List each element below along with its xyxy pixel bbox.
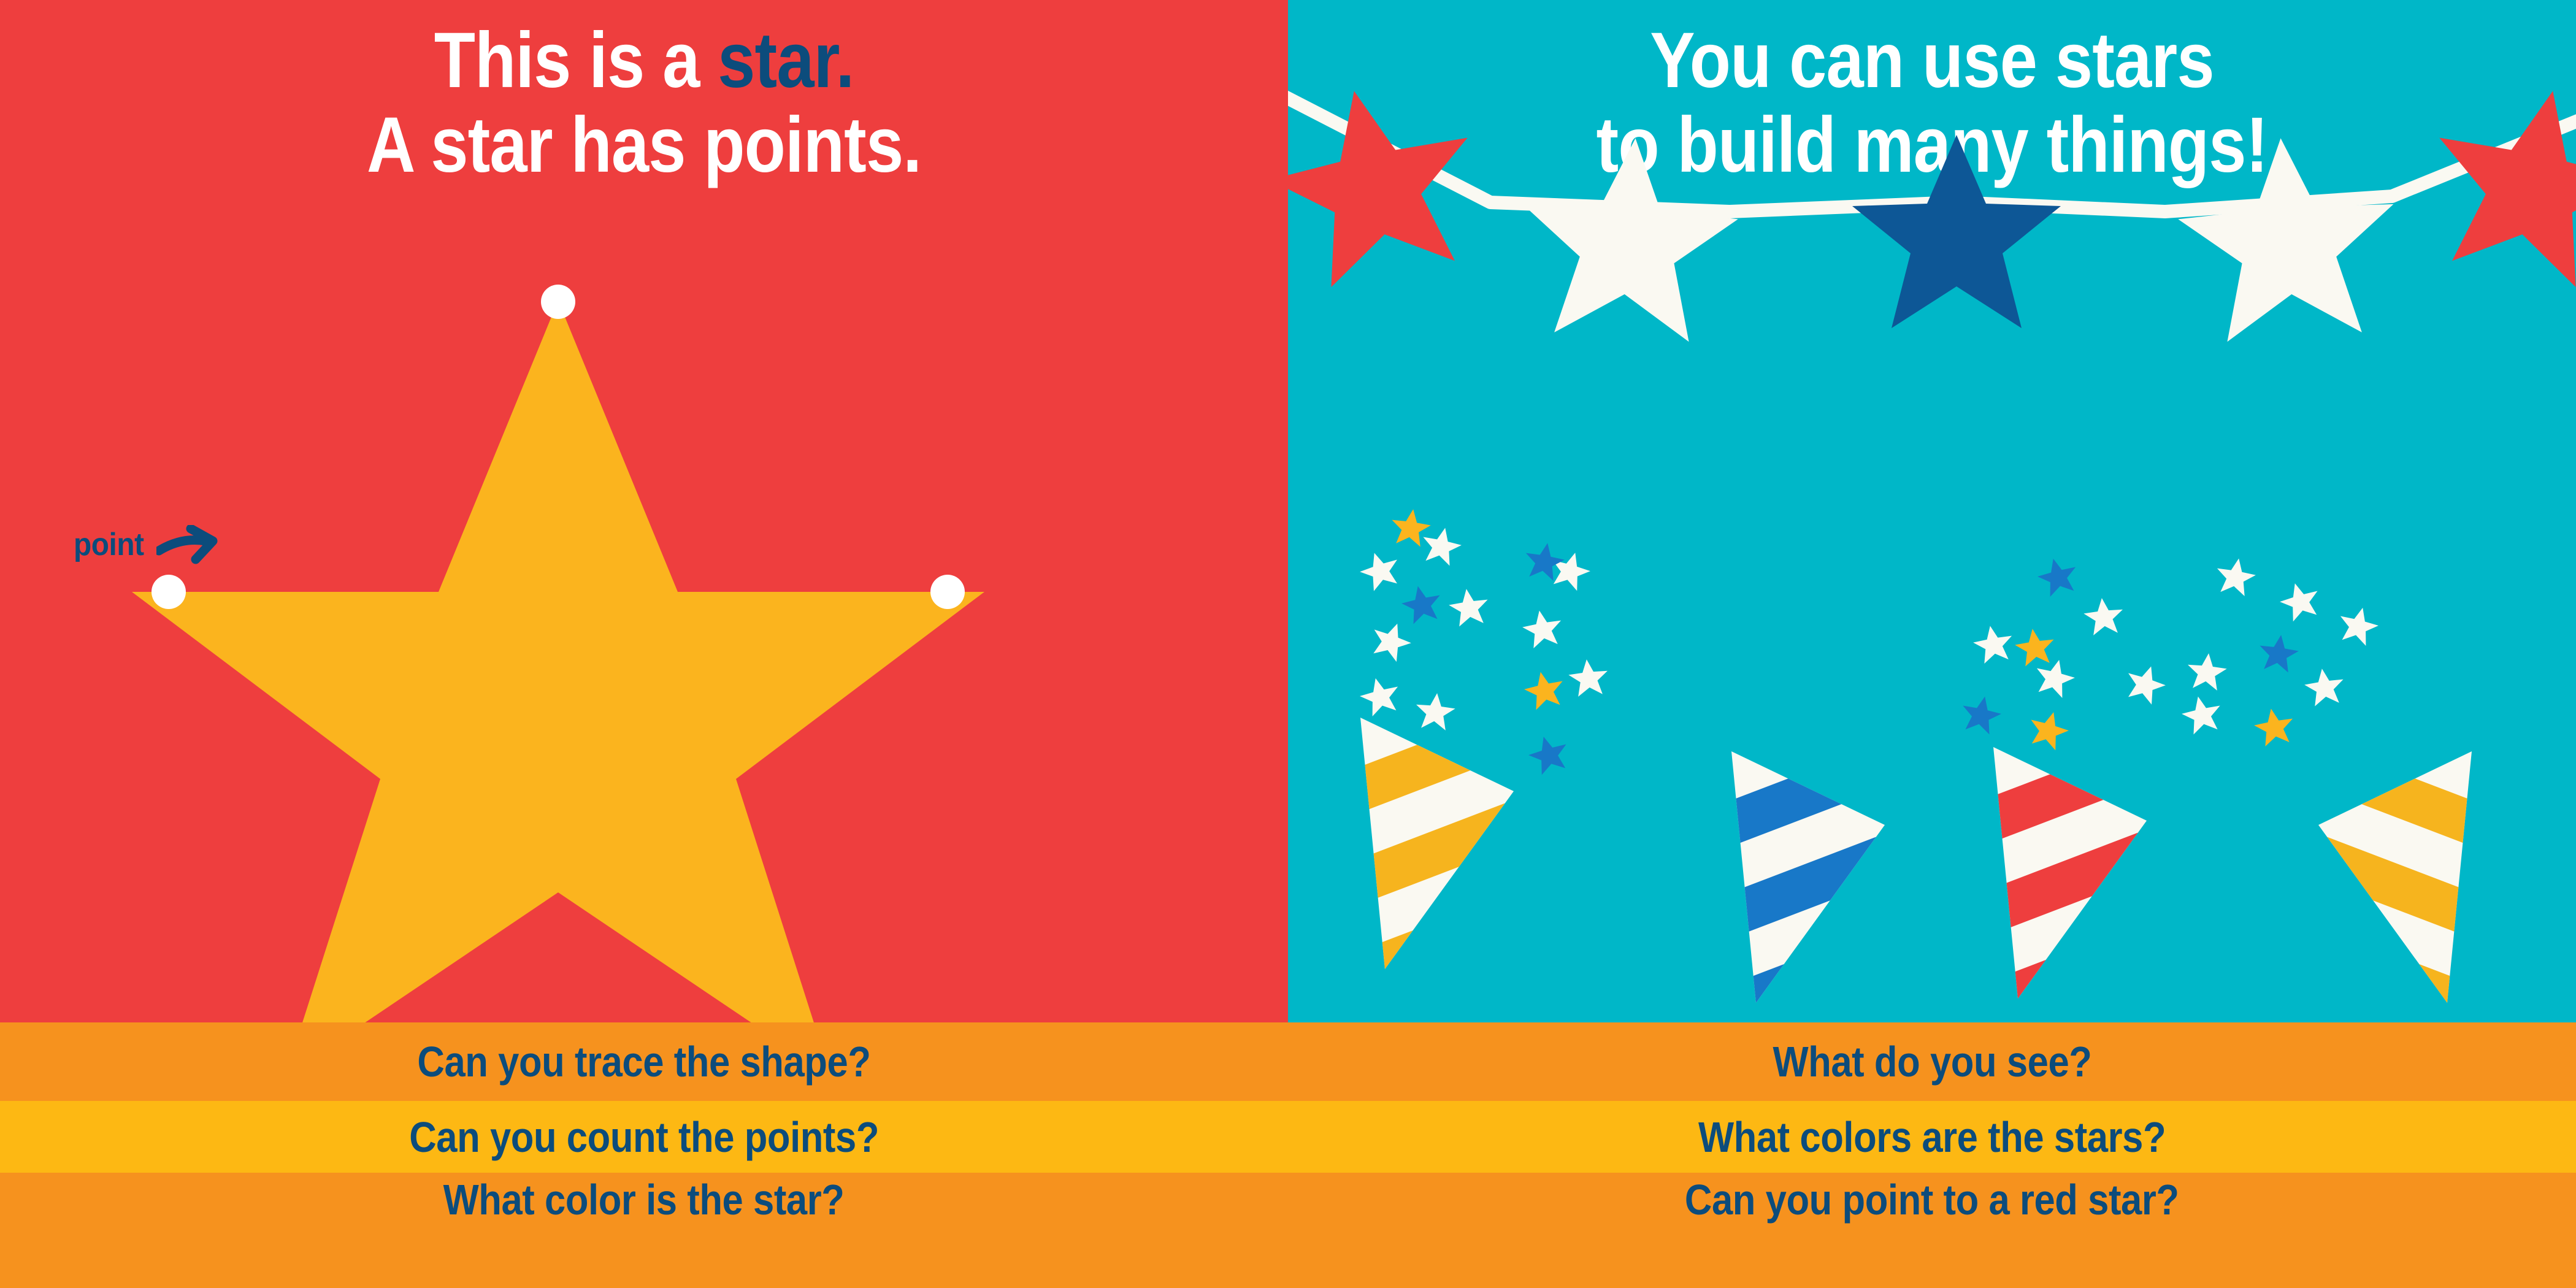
big-star-illustration xyxy=(159,264,957,1000)
point-annotation-label: point xyxy=(74,526,144,563)
garland-star-white-right xyxy=(2173,131,2402,345)
question-strip-1-right: What do you see? xyxy=(1288,1022,2576,1101)
question-strip-3-right: Can you point to a red star? xyxy=(1288,1173,2576,1288)
confetti-poppers-illustration xyxy=(1288,534,2576,1022)
party-popper-blue xyxy=(1707,727,1928,1022)
party-popper-red xyxy=(1969,723,2190,1022)
question-strip-3-left: What color is the star? xyxy=(0,1173,1288,1288)
page-spread: This is a star. A star has points. point xyxy=(0,0,2576,1288)
star-point-marker xyxy=(930,575,965,609)
party-popper-yellow-1 xyxy=(1336,693,1557,1006)
confetti-cluster-3 xyxy=(2185,555,2382,707)
left-page-panel: This is a star. A star has points. point xyxy=(0,0,1288,1022)
confetti-cluster-1 xyxy=(1355,524,1610,731)
left-headline-line1-pre: This is a xyxy=(434,17,718,104)
question-strip-2-right: What colors are the stars? xyxy=(1288,1101,2576,1173)
question-strip-2: Can you count the points? What colors ar… xyxy=(0,1101,2576,1173)
party-popper-yellow-2 xyxy=(2282,727,2515,1022)
arrow-right-curved-icon xyxy=(156,525,224,564)
star-garland-illustration xyxy=(1288,0,2576,613)
right-page-panel: You can use stars to build many things! xyxy=(1288,0,2576,1022)
garland-star-white-left xyxy=(1514,131,1743,345)
left-headline-accent-star: star. xyxy=(718,17,854,104)
star-point-marker xyxy=(541,285,575,319)
star-shape xyxy=(132,301,984,1022)
question-strip-3: What color is the star? Can you point to… xyxy=(0,1173,2576,1288)
confetti-cluster-2 xyxy=(1971,596,2225,736)
question-strip-1: Can you trace the shape? What do you see… xyxy=(0,1022,2576,1101)
question-strip-2-left: Can you count the points? xyxy=(0,1101,1288,1173)
question-strips: Can you trace the shape? What do you see… xyxy=(0,1022,2576,1288)
left-headline-line1: This is a star. xyxy=(90,18,1198,103)
left-headline: This is a star. A star has points. xyxy=(90,18,1198,188)
point-annotation: point xyxy=(74,525,224,564)
left-headline-line2: A star has points. xyxy=(90,103,1198,188)
garland-star-navy-center xyxy=(1852,135,2061,328)
star-point-marker xyxy=(151,575,186,609)
question-strip-1-left: Can you trace the shape? xyxy=(0,1022,1288,1101)
